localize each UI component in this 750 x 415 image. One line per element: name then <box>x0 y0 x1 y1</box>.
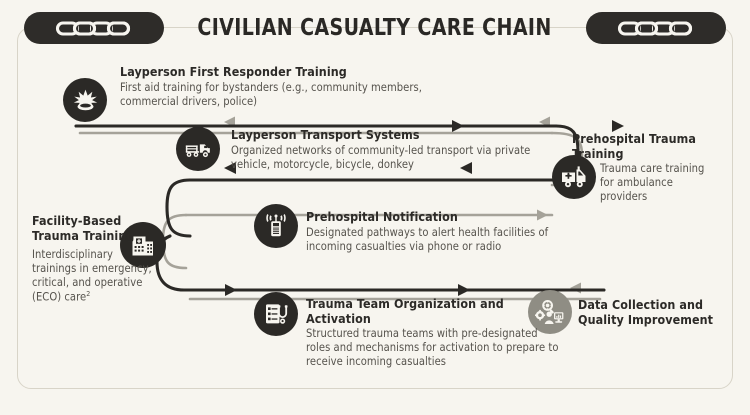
chain-badge-right <box>586 12 726 44</box>
node-description-superscript: 2 <box>86 290 90 298</box>
node-icon-prehospital-notification <box>254 204 298 248</box>
node-description-text: Interdisciplinary trainings in emergency… <box>32 248 152 304</box>
node-description: First aid training for bystanders (e.g.,… <box>120 81 440 109</box>
node-trauma-team-organization-and-activation: Trauma Team Organization and Activation … <box>306 297 561 369</box>
node-title: Trauma Team Organization and Activation <box>306 297 561 326</box>
cart-truck-icon <box>184 138 212 160</box>
node-description: Interdisciplinary trainings in emergency… <box>32 248 157 305</box>
node-layperson-transport-systems: Layperson Transport Systems Organized ne… <box>231 128 541 172</box>
node-facility-based-trauma-training: Facility-Based Trauma Training Interdisc… <box>32 214 157 305</box>
node-description: Trauma care training for ambulance provi… <box>600 162 710 204</box>
node-title: Layperson Transport Systems <box>231 128 541 143</box>
chain-links-icon <box>617 19 695 38</box>
node-prehospital-notification: Prehospital Notification Designated path… <box>306 210 556 254</box>
infographic-canvas: CIVILIAN CASUALTY CARE CHAIN <box>0 0 750 415</box>
node-title: Layperson First Responder Training <box>120 65 440 80</box>
page-title: CIVILIAN CASUALTY CARE CHAIN <box>198 15 552 41</box>
node-data-collection-and-quality-improvement: Data Collection and Quality Improvement <box>578 298 723 328</box>
node-title: Facility-Based Trauma Training <box>32 214 157 243</box>
chain-badge-left <box>24 12 164 44</box>
radio-walkie-talkie-icon <box>264 213 288 239</box>
node-layperson-first-responder-training: Layperson First Responder Training First… <box>120 65 440 109</box>
chain-links-icon <box>55 19 133 38</box>
node-description: Organized networks of community-led tran… <box>231 144 541 172</box>
node-title: Data Collection and Quality Improvement <box>578 298 723 327</box>
node-prehospital-trauma-training: Prehospital Trauma Training Trauma care … <box>572 132 712 204</box>
node-icon-layperson-first-responder-training <box>63 78 107 122</box>
clipboard-stethoscope-icon <box>263 301 289 327</box>
node-description: Designated pathways to alert health faci… <box>306 226 556 254</box>
node-icon-layperson-transport-systems <box>176 127 220 171</box>
header: CIVILIAN CASUALTY CARE CHAIN <box>0 6 750 50</box>
node-description: Structured trauma teams with pre-designa… <box>306 327 561 369</box>
node-icon-trauma-team-organization-and-activation <box>254 292 298 336</box>
node-title: Prehospital Trauma Training <box>572 132 712 161</box>
explosion-blast-icon <box>72 87 99 114</box>
node-title: Prehospital Notification <box>306 210 556 225</box>
